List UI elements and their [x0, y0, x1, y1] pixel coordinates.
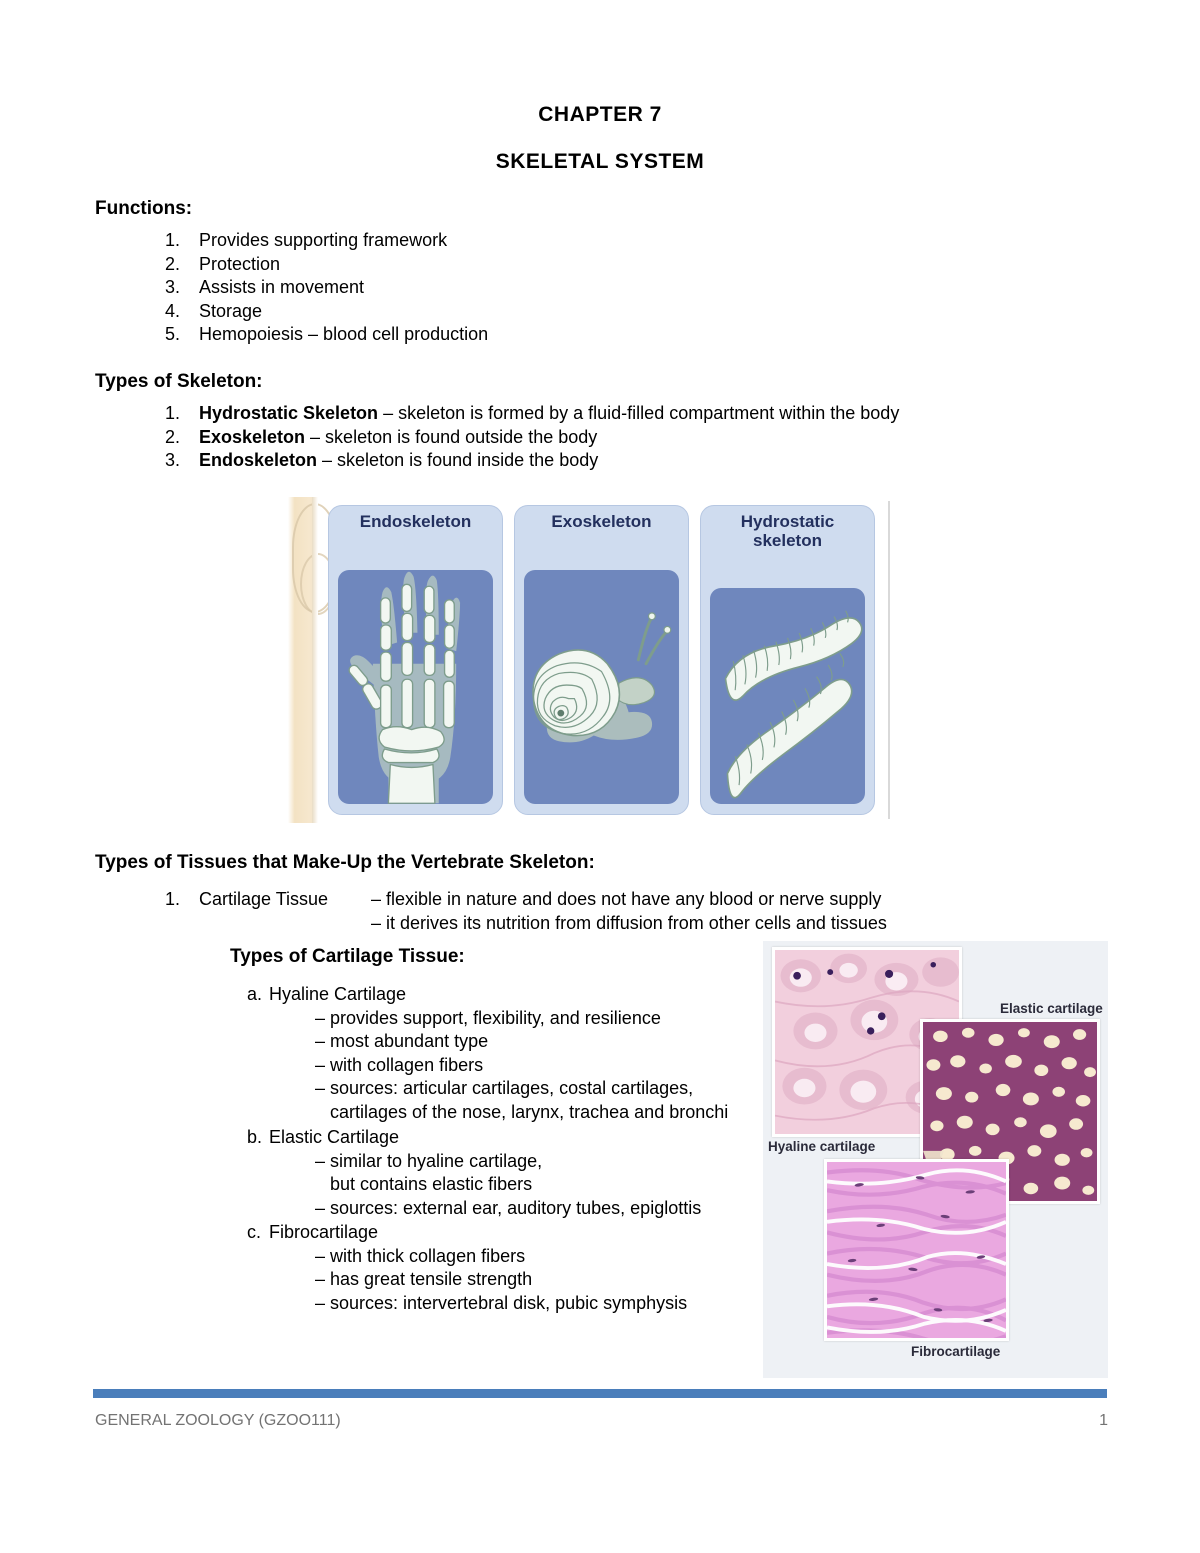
earthworms-icon: [710, 588, 865, 804]
document-page: CHAPTER 7 SKELETAL SYSTEM Functions: 1. …: [0, 0, 1200, 1553]
hand-skeleton-xray-icon: [338, 570, 493, 804]
list-marker: b.: [247, 1126, 269, 1150]
skeleton-card-illustration-area: [710, 588, 865, 804]
cartilage-histology-figure: Elastic cartilage Hyaline cartilage Fibr…: [763, 941, 1108, 1378]
cartilage-types-heading: Types of Cartilage Tissue:: [230, 946, 465, 968]
list-text: Endoskeleton – skeleton is found inside …: [199, 449, 899, 473]
cartilage-notes: – provides support, flexibility, and res…: [247, 1007, 728, 1125]
skeleton-card-illustration-area: [524, 570, 679, 804]
tissue-name: Cartilage Tissue: [199, 888, 371, 935]
fibrocartilage-tissue-image: [827, 1162, 1006, 1338]
functions-list: 1. Provides supporting framework 2. Prot…: [95, 229, 488, 347]
vertebrate-tissues-heading: Types of Tissues that Make-Up the Verteb…: [95, 852, 595, 874]
list-marker: a.: [247, 983, 269, 1007]
cartilage-type-fibro: c. Fibrocartilage – with thick collagen …: [247, 1221, 687, 1315]
term: Hydrostatic Skeleton: [199, 403, 378, 423]
fibrocartilage-label: Fibrocartilage: [911, 1344, 1000, 1359]
list-marker: 1.: [165, 888, 199, 935]
note-line: – with thick collagen fibers: [315, 1245, 687, 1269]
functions-section: Functions: 1. Provides supporting framew…: [95, 198, 488, 347]
note-line: – sources: intervertebral disk, pubic sy…: [315, 1292, 687, 1316]
cartilage-name: Elastic Cartilage: [269, 1126, 399, 1150]
note-line: – sources: external ear, auditory tubes,…: [315, 1197, 701, 1221]
cartilage-notes: – similar to hyaline cartilage, but cont…: [247, 1150, 701, 1221]
note-line: – most abundant type: [315, 1030, 728, 1054]
list-marker: c.: [247, 1221, 269, 1245]
cartilage-tissue-entry: 1. Cartilage Tissue – flexible in nature…: [165, 888, 887, 935]
elastic-cartilage-label: Elastic cartilage: [1000, 1001, 1103, 1016]
term: Exoskeleton: [199, 427, 305, 447]
snail-shell-icon: [524, 570, 679, 804]
skeleton-card-hydrostatic: Hydrostatic skeleton: [700, 505, 875, 815]
types-of-skeleton-heading: Types of Skeleton:: [95, 371, 899, 393]
list-text: Exoskeleton – skeleton is found outside …: [199, 426, 899, 450]
list-text: Provides supporting framework: [199, 229, 488, 253]
list-item: 2. Protection: [165, 253, 488, 277]
note-line: but contains elastic fibers: [315, 1173, 701, 1197]
cartilage-types-section: Types of Cartilage Tissue:: [230, 946, 465, 968]
footer-course-label: GENERAL ZOOLOGY (GZOO111): [95, 1412, 341, 1430]
note-line: cartilages of the nose, larynx, trachea …: [315, 1101, 728, 1125]
skeleton-types-figure: Endoskeleton: [288, 497, 891, 823]
note-line: – it derives its nutrition from diffusio…: [371, 912, 887, 936]
note-line: – flexible in nature and does not have a…: [371, 888, 887, 912]
cartilage-type-hyaline: a. Hyaline Cartilage – provides support,…: [247, 983, 728, 1124]
hyaline-cartilage-label: Hyaline cartilage: [768, 1139, 875, 1154]
list-marker: 4.: [165, 300, 199, 324]
list-marker: 1.: [165, 229, 199, 253]
footer-page-number: 1: [1080, 1412, 1108, 1430]
system-title: SKELETAL SYSTEM: [0, 150, 1200, 174]
skeleton-card-illustration-area: [338, 570, 493, 804]
term-definition: – skeleton is found inside the body: [317, 450, 598, 470]
list-item: 1. Hydrostatic Skeleton – skeleton is fo…: [165, 402, 899, 426]
note-line: – provides support, flexibility, and res…: [315, 1007, 728, 1031]
skeleton-card-label: Exoskeleton: [515, 512, 688, 531]
list-marker: 2.: [165, 426, 199, 450]
figure-left-margin-strip: [288, 497, 318, 823]
list-text: Assists in movement: [199, 276, 488, 300]
tissue-notes: – flexible in nature and does not have a…: [371, 888, 887, 935]
list-text: Hydrostatic Skeleton – skeleton is forme…: [199, 402, 899, 426]
list-text: Hemopoiesis – blood cell production: [199, 323, 488, 347]
list-marker: 3.: [165, 449, 199, 473]
skeleton-card-label: Hydrostatic skeleton: [701, 512, 874, 550]
term-definition: – skeleton is formed by a fluid-filled c…: [378, 403, 899, 423]
footer-divider: [93, 1389, 1107, 1398]
vertebrate-tissues-section: Types of Tissues that Make-Up the Verteb…: [95, 852, 595, 874]
list-text: Protection: [199, 253, 488, 277]
term-definition: – skeleton is found outside the body: [305, 427, 597, 447]
types-of-skeleton-list: 1. Hydrostatic Skeleton – skeleton is fo…: [95, 402, 899, 473]
chapter-title: CHAPTER 7: [0, 103, 1200, 127]
note-line: – similar to hyaline cartilage,: [315, 1150, 701, 1174]
types-of-skeleton-section: Types of Skeleton: 1. Hydrostatic Skelet…: [95, 371, 899, 473]
note-line: – has great tensile strength: [315, 1268, 687, 1292]
list-item: 3. Endoskeleton – skeleton is found insi…: [165, 449, 899, 473]
skeleton-card-exoskeleton: Exoskeleton: [514, 505, 689, 815]
list-item: 4. Storage: [165, 300, 488, 324]
cartilage-notes: – with thick collagen fibers – has great…: [247, 1245, 687, 1316]
term: Endoskeleton: [199, 450, 317, 470]
list-marker: 2.: [165, 253, 199, 277]
list-marker: 5.: [165, 323, 199, 347]
note-line: – with collagen fibers: [315, 1054, 728, 1078]
functions-heading: Functions:: [95, 198, 488, 220]
list-item: 1. Provides supporting framework: [165, 229, 488, 253]
list-text: Storage: [199, 300, 488, 324]
list-item: 5. Hemopoiesis – blood cell production: [165, 323, 488, 347]
fibrocartilage-micrograph: [824, 1159, 1009, 1341]
figure-right-rule: [888, 501, 890, 819]
list-item: 3. Assists in movement: [165, 276, 488, 300]
cartilage-type-elastic: b. Elastic Cartilage – similar to hyalin…: [247, 1126, 701, 1220]
list-item: 2. Exoskeleton – skeleton is found outsi…: [165, 426, 899, 450]
list-marker: 1.: [165, 402, 199, 426]
skeleton-card-label: Endoskeleton: [329, 512, 502, 531]
cartilage-name: Fibrocartilage: [269, 1221, 378, 1245]
note-line: – sources: articular cartilages, costal …: [315, 1077, 728, 1101]
cartilage-name: Hyaline Cartilage: [269, 983, 406, 1007]
skeleton-card-endoskeleton: Endoskeleton: [328, 505, 503, 815]
list-marker: 3.: [165, 276, 199, 300]
